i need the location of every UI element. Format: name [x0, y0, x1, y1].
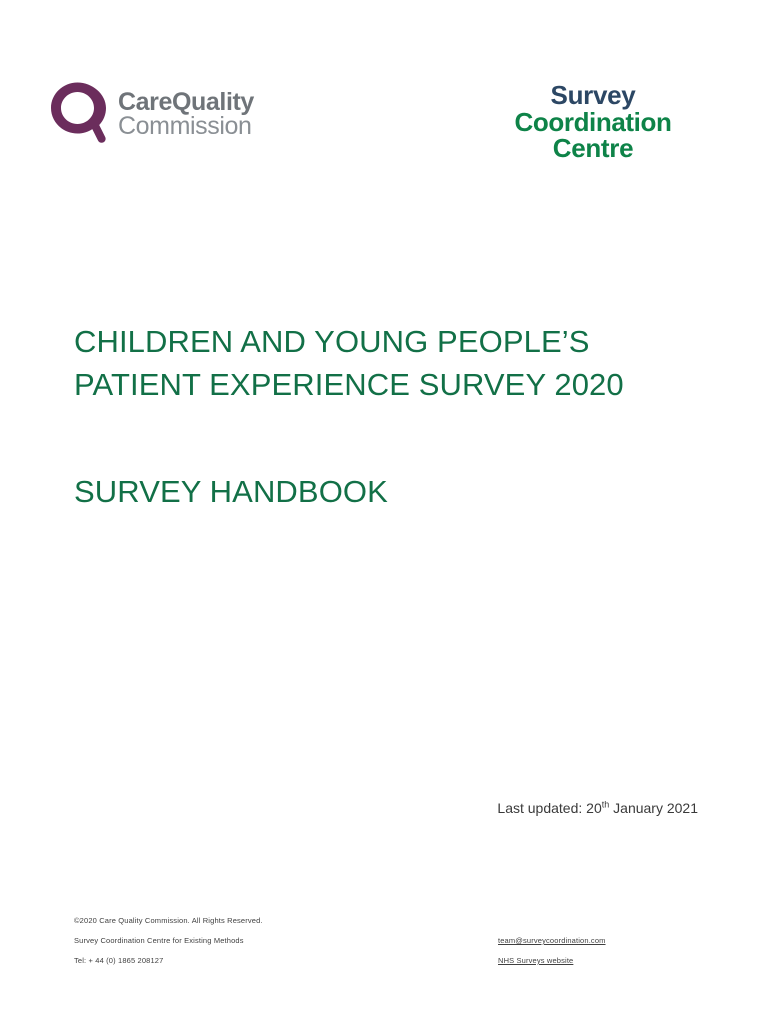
- footer-row-copyright: ©2020 Care Quality Commission. All Right…: [74, 916, 698, 936]
- footer-row-organisation: Survey Coordination Centre for Existing …: [74, 936, 698, 956]
- footer-organisation: Survey Coordination Centre for Existing …: [74, 936, 244, 945]
- page-footer: ©2020 Care Quality Commission. All Right…: [74, 916, 698, 976]
- last-updated-day: 20: [586, 800, 602, 816]
- scc-logo-line-centre: Centre: [478, 135, 708, 162]
- footer-email-link[interactable]: team@surveycoordination.com: [498, 936, 606, 945]
- logo-header-row: CareQuality Commission Survey Coordinati…: [0, 72, 770, 182]
- scc-logo-line-survey: Survey: [478, 82, 708, 109]
- footer-website-link[interactable]: NHS Surveys website: [498, 956, 573, 965]
- last-updated-prefix: Last updated:: [497, 800, 586, 816]
- page-subtitle: SURVEY HANDBOOK: [74, 474, 388, 510]
- survey-coordination-centre-logo: Survey Coordination Centre: [478, 82, 708, 162]
- cqc-wordmark: CareQuality Commission: [118, 88, 254, 139]
- scc-logo-line-coordination: Coordination: [478, 109, 708, 136]
- cqc-wordmark-line-1: CareQuality: [118, 90, 254, 115]
- cqc-q-mark-icon: [48, 80, 110, 146]
- page-title-line-2: PATIENT EXPERIENCE SURVEY 2020: [74, 363, 714, 406]
- cqc-wordmark-line-2: Commission: [118, 114, 254, 139]
- footer-telephone: Tel: + 44 (0) 1865 208127: [74, 956, 163, 965]
- last-updated-month-year: January 2021: [609, 800, 698, 816]
- care-quality-commission-logo: CareQuality Commission: [48, 80, 254, 146]
- footer-row-telephone: Tel: + 44 (0) 1865 208127 NHS Surveys we…: [74, 956, 698, 976]
- footer-copyright: ©2020 Care Quality Commission. All Right…: [74, 916, 263, 925]
- page-title: CHILDREN AND YOUNG PEOPLE’S PATIENT EXPE…: [74, 320, 714, 407]
- page-title-line-1: CHILDREN AND YOUNG PEOPLE’S: [74, 320, 714, 363]
- document-page: CareQuality Commission Survey Coordinati…: [0, 0, 770, 1024]
- last-updated-text: Last updated: 20th January 2021: [497, 800, 698, 816]
